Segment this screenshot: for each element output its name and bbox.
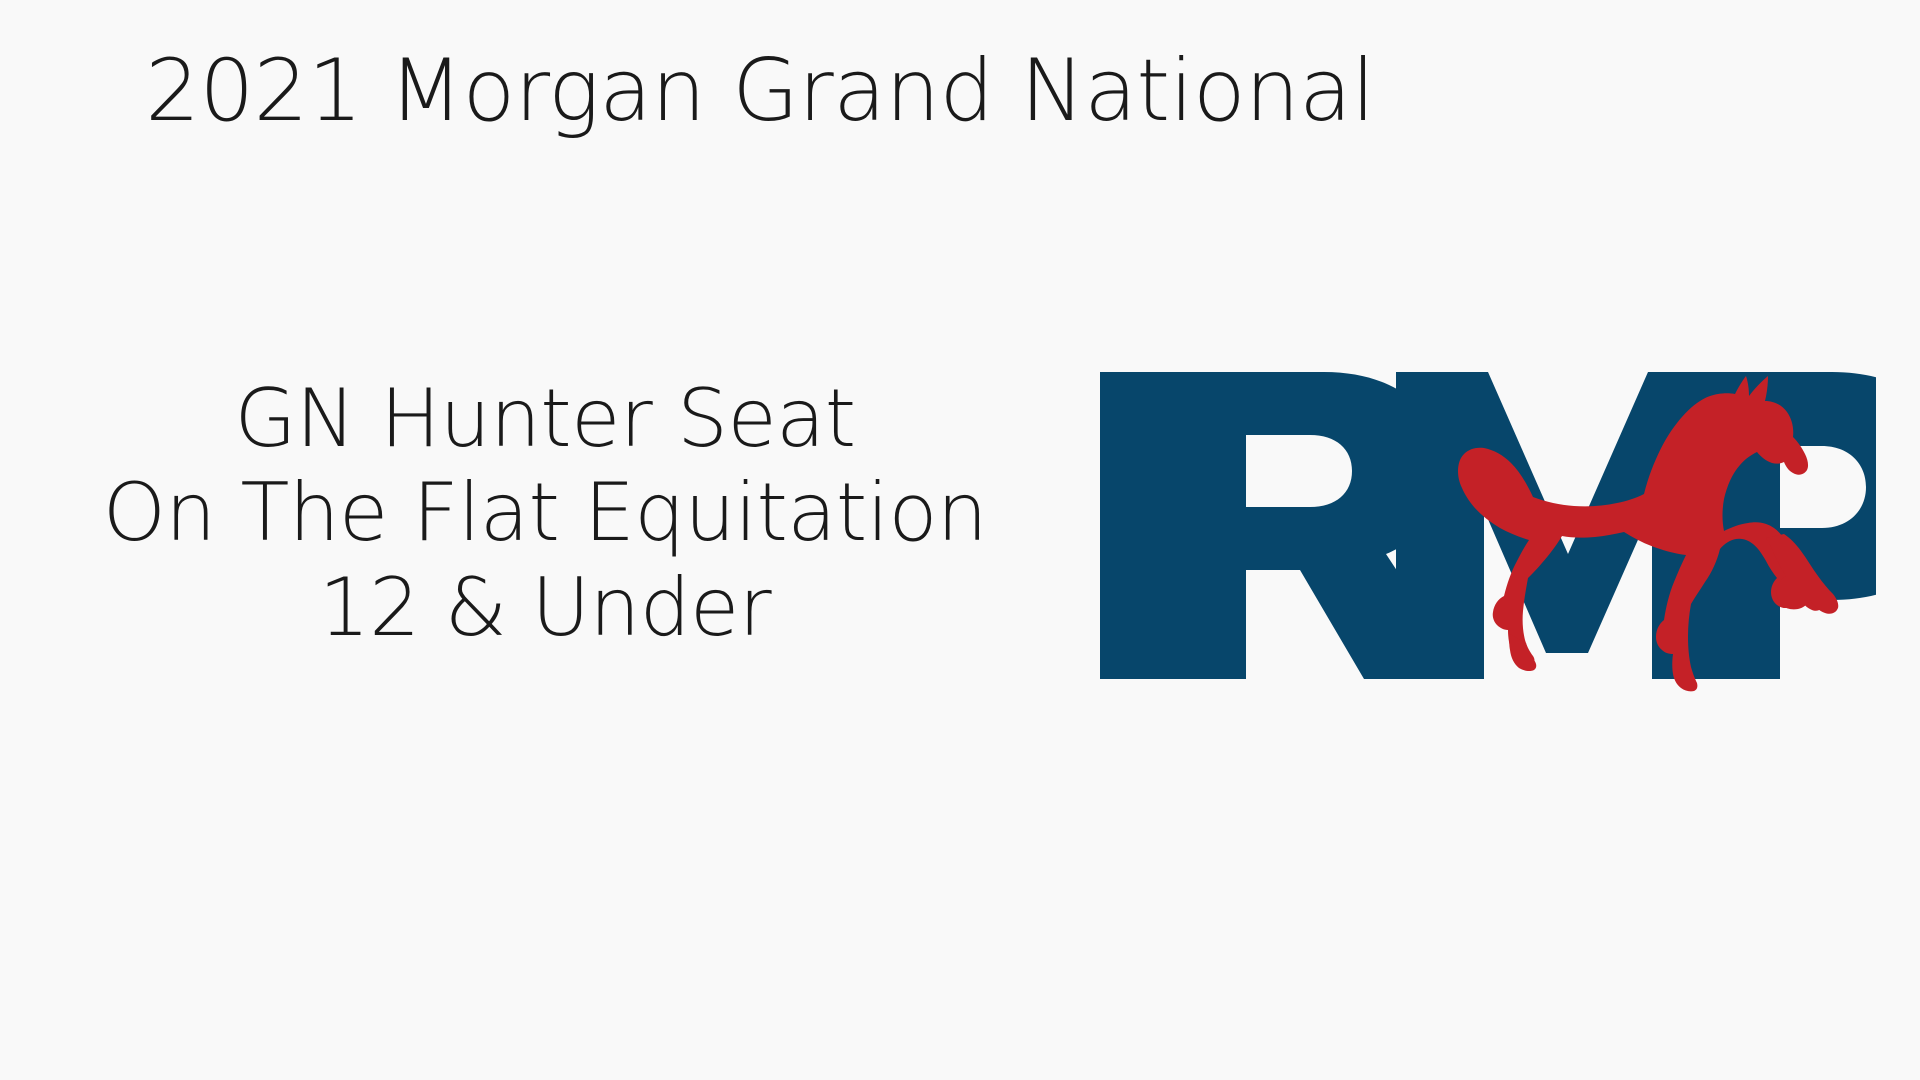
class-line-age-division: 12 & Under — [10, 561, 1080, 655]
class-info-block: GN Hunter Seat On The Flat Equitation 12… — [10, 372, 1080, 655]
page-title: 2021 Morgan Grand National — [0, 46, 1520, 137]
class-line-discipline: GN Hunter Seat — [10, 372, 1080, 466]
rmp-logo-svg — [1096, 358, 1876, 693]
rmp-logo — [1096, 358, 1876, 693]
presentation-slide: 2021 Morgan Grand National GN Hunter Sea… — [0, 0, 1920, 1080]
class-line-name: On The Flat Equitation — [10, 466, 1080, 560]
